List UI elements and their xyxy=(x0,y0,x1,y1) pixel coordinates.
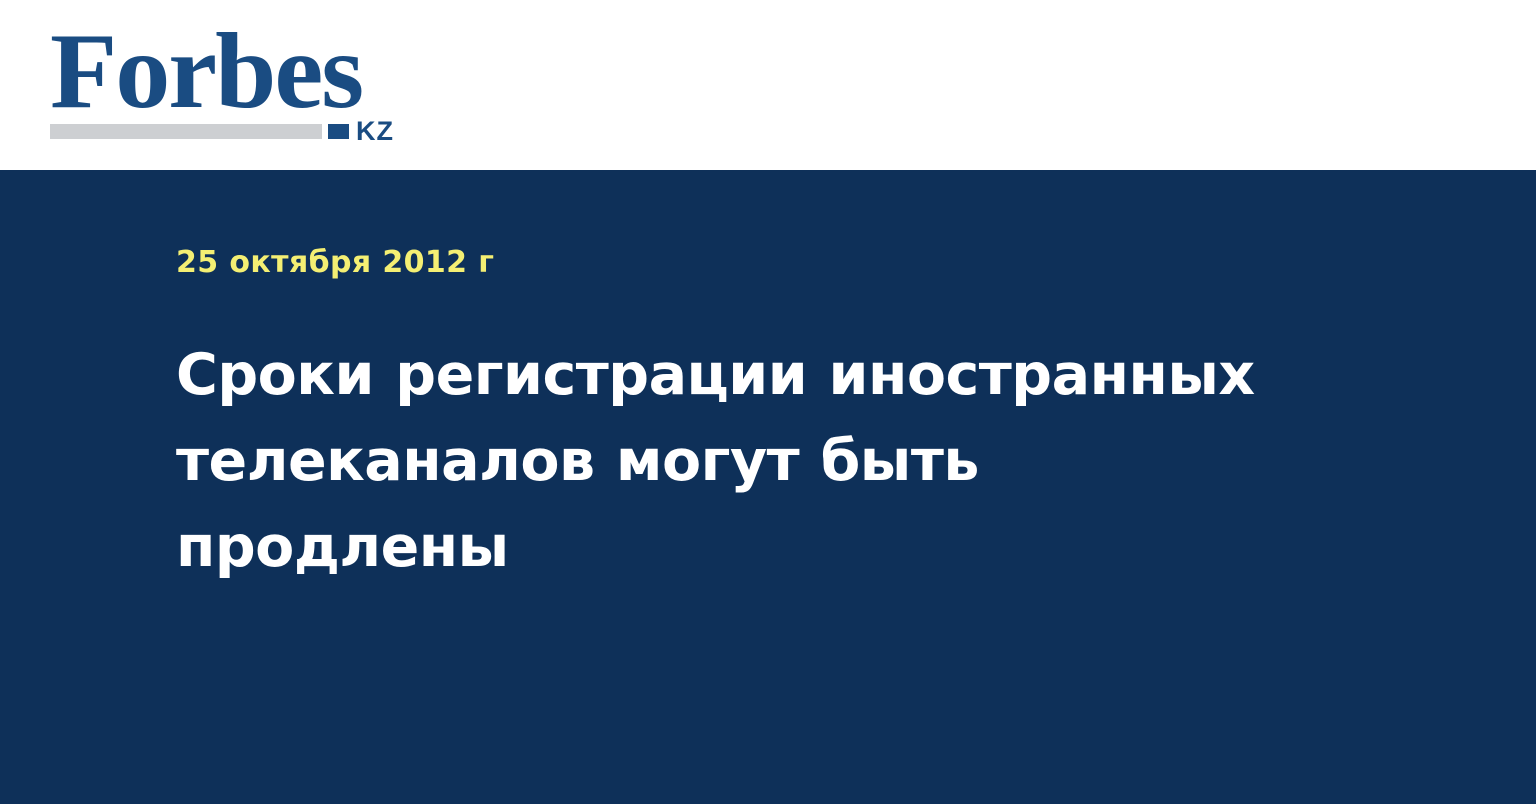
article-date: 25 октября 2012 г xyxy=(176,246,1376,280)
site-header: Forbes KZ xyxy=(0,0,1536,170)
logo-kz-suffix: KZ xyxy=(356,119,394,143)
forbes-kz-logo[interactable]: Forbes KZ xyxy=(50,18,410,144)
article-headline: Сроки регистрации иностранных телеканало… xyxy=(176,332,1316,590)
forbes-wordmark: Forbes xyxy=(50,18,362,126)
article-card-page: Forbes KZ 25 октября 2012 г Сроки регист… xyxy=(0,0,1536,804)
logo-underline-rule xyxy=(50,124,322,139)
square-icon xyxy=(328,124,349,139)
article-hero: 25 октября 2012 г Сроки регистрации инос… xyxy=(0,170,1536,804)
article-hero-content: 25 октября 2012 г Сроки регистрации инос… xyxy=(176,246,1376,590)
